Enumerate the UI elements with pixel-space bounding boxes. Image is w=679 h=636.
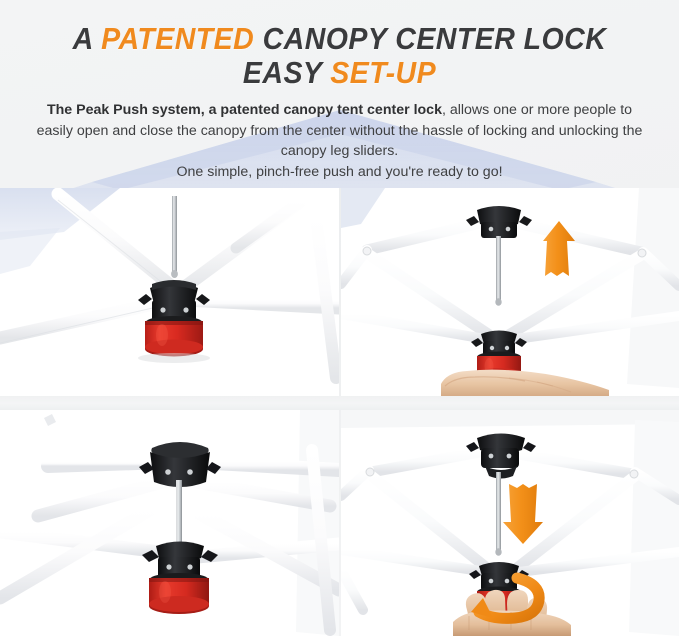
title-line-1: A PATENTED CANOPY CENTER LOCK	[27, 22, 652, 56]
title-prefix: A	[73, 21, 101, 56]
title-line-2: EASY SET-UP	[27, 56, 652, 90]
description-closing-line: One simple, pinch-free push and you're r…	[176, 164, 502, 180]
title-highlight-setup: SET-UP	[330, 55, 436, 90]
header: A PATENTED CANOPY CENTER LOCK EASY SET-U…	[0, 0, 679, 190]
panel-closed-top	[0, 188, 339, 396]
title-suffix: CANOPY CENTER LOCK	[254, 21, 606, 56]
panel-push-up	[341, 188, 679, 396]
description-paragraph: The Peak Push system, a patented canopy …	[0, 90, 679, 182]
page-title: A PATENTED CANOPY CENTER LOCK EASY SET-U…	[27, 0, 652, 90]
description-lead: The Peak Push system, a patented canopy …	[47, 102, 442, 118]
panel-locked-open	[0, 410, 339, 636]
grid-horizontal-gutter	[0, 396, 679, 410]
panel-pull-down	[341, 410, 679, 636]
title-easy: EASY	[243, 55, 330, 90]
infographic-page: A PATENTED CANOPY CENTER LOCK EASY SET-U…	[0, 0, 679, 636]
title-highlight-patented: PATENTED	[101, 21, 254, 56]
photo-grid	[0, 188, 679, 636]
grid-vertical-gutter	[339, 188, 341, 636]
